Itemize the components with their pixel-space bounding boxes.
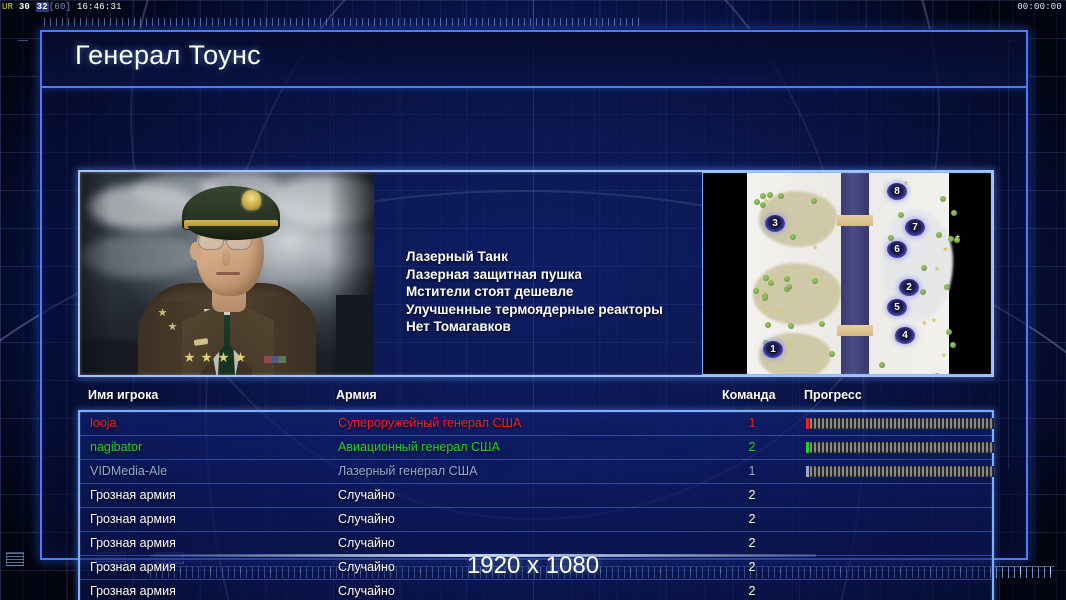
general-four-stars [184,352,262,364]
player-team: 2 [740,488,764,502]
table-row[interactable]: Грозная армияСлучайно2 [80,484,992,508]
lobby-window: Генерал Тоунс [40,30,1028,560]
top-status-bar: UR 30 32[60] 16:46:31 00:00:00 [0,0,1066,14]
eagle-badge-icon [242,190,261,210]
bonus-item: Нет Томагавков [406,318,663,336]
player-name: Грозная армия [90,584,176,598]
map-start-position[interactable]: 8 [887,183,907,200]
player-team: 1 [740,416,764,430]
column-header-name: Имя игрока [88,388,158,402]
map-tree-icon [879,362,885,368]
map-tree-icon [898,212,904,218]
map-preview[interactable]: 12345678 [702,172,992,375]
general-info-panel: Лазерный Танк Лазерная защитная пушка Мс… [78,170,994,377]
progress-bar [806,418,994,429]
player-name: Грозная армия [90,488,176,502]
map-tree-icon [788,323,794,329]
map-tree-icon [760,202,766,208]
map-start-position[interactable]: 3 [765,215,785,232]
general-bonus-panel: Лазерный Танк Лазерная защитная пушка Мс… [378,172,698,375]
map-tree-icon [829,351,835,357]
column-header-team: Команда [722,388,776,402]
window-titlebar: Генерал Тоунс [42,32,1026,88]
progress-bar [806,442,994,453]
map-tree-icon [940,196,946,202]
map-tree-icon [950,342,956,348]
map-tree-icon [921,265,927,271]
player-team: 2 [740,440,764,454]
player-progress [806,418,994,429]
player-table-header: Имя игрока Армия Команда Прогресс [78,388,994,406]
map-start-position[interactable]: 6 [887,241,907,258]
player-name: VIDMedia-Ale [90,464,167,478]
bonus-item: Улучшенные термоядерные реакторы [406,301,663,319]
general-mouth [216,272,240,275]
player-team: 1 [740,464,764,478]
map-start-position[interactable]: 4 [895,327,915,344]
map-tree-icon [944,284,950,290]
table-row[interactable]: Грозная армияСлучайно2 [80,508,992,532]
map-bridge [837,325,873,336]
player-progress [806,442,994,453]
star-icon [235,352,246,363]
bonus-item: Мстители стоят дешевле [406,283,663,301]
column-header-army: Армия [336,388,377,402]
player-team: 2 [740,584,764,598]
perf-value-a: 30 [19,2,30,12]
player-name: Грозная армия [90,512,176,526]
player-team: 2 [740,536,764,550]
general-nose [222,248,230,266]
progress-bar-cap [806,442,809,453]
column-header-progress: Прогресс [804,388,862,402]
player-army: Авиационный генерал США [338,440,500,454]
map-tree-icon [811,198,817,204]
map-start-position[interactable]: 5 [887,299,907,316]
player-army: Лазерный генерал США [338,464,477,478]
general-portrait [80,172,374,375]
performance-readout: UR 30 32[60] 16:46:31 [2,0,122,14]
map-tree-icon [812,278,818,284]
map-tree-icon [946,329,952,335]
game-timer: 00:00:00 [1017,0,1062,14]
general-bonus-list: Лазерный Танк Лазерная защитная пушка Мс… [406,248,663,336]
page-title: Генерал Тоунс [75,40,261,71]
table-row[interactable]: Грозная армияСлучайно2 [80,580,992,600]
table-row[interactable]: nagibatorАвиационный генерал США2 [80,436,992,460]
perf-cap: [60] [49,2,71,12]
map-tree-icon [936,232,942,238]
map-tree-icon [951,210,957,216]
bonus-item: Лазерный Танк [406,248,663,266]
window-content: Лазерный Танк Лазерная защитная пушка Мс… [42,88,1026,558]
portrait-shadow-block [336,295,374,375]
progress-bar-cap [806,418,809,429]
general-service-ribbon [264,356,286,363]
perf-label: UR [2,2,13,12]
map-start-position[interactable]: 1 [763,341,783,358]
resolution-label: 1920 x 1080 [0,552,1066,580]
map-start-position[interactable]: 2 [899,279,919,296]
map-bridge [837,215,873,226]
table-row[interactable]: VIDMedia-AleЛазерный генерал США1 [80,460,992,484]
player-progress [806,466,994,477]
player-team: 2 [740,512,764,526]
table-row[interactable]: loojaСупероружейный генерал США1 [80,412,992,436]
player-army: Случайно [338,536,395,550]
player-army: Случайно [338,584,395,598]
star-icon [201,352,212,363]
bonus-item: Лазерная защитная пушка [406,266,663,284]
player-name: Грозная армия [90,536,176,550]
general-figure [142,176,310,375]
system-clock: 16:46:31 [77,2,122,12]
map-start-position[interactable]: 7 [905,219,925,236]
player-army: Случайно [338,512,395,526]
game-lobby-screen: UR 30 32[60] 16:46:31 00:00:00 Генерал Т… [0,0,1066,600]
star-icon [218,352,229,363]
player-army: Супероружейный генерал США [338,416,521,430]
progress-bar [806,466,994,477]
portrait-vignette-left [80,172,110,375]
progress-bar-cap [806,466,809,477]
map-tree-icon [762,295,768,301]
map-tree-icon [948,236,954,242]
star-icon [184,352,195,363]
player-army: Случайно [338,488,395,502]
player-name: looja [90,416,116,430]
perf-value-b: 32 [36,2,49,12]
player-name: nagibator [90,440,142,454]
map-tree-icon [954,237,960,243]
map-tree-icon [754,199,760,205]
map-river [841,173,869,374]
